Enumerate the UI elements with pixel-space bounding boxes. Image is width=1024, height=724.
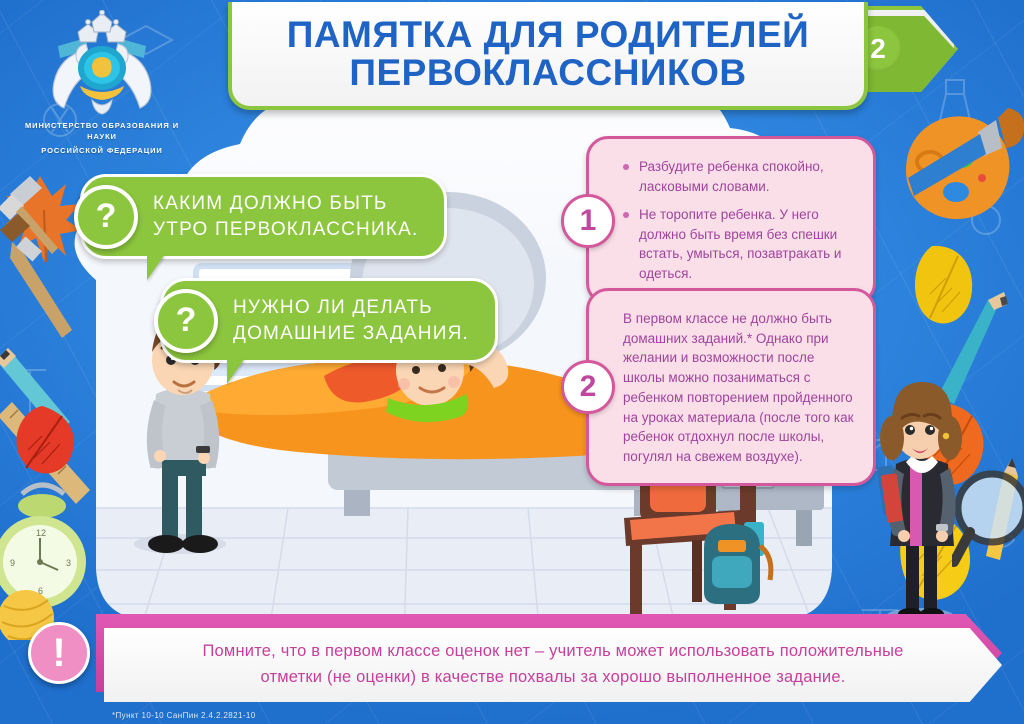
- page-title-card: ПАМЯТКА ДЛЯ РОДИТЕЛЕЙ ПЕРВОКЛАССНИКОВ: [228, 2, 868, 110]
- paintbrush-icon: [0, 176, 58, 254]
- banner-line-1: Помните, что в первом классе оценок нет …: [202, 639, 903, 665]
- paintbrush-icon: [908, 108, 1024, 196]
- answer-number-badge-1: 1: [561, 194, 615, 248]
- emblem-text-line2: РОССИЙСКОЙ ФЕДЕРАЦИИ: [12, 145, 192, 156]
- answer-box-2: 2 В первом классе не должно быть домашни…: [586, 288, 876, 486]
- yellow-leaf-icon: [900, 513, 970, 600]
- question-mark-icon: ?: [74, 185, 138, 249]
- banner-line-2: отметки (не оценки) в качестве похвалы з…: [260, 665, 845, 691]
- question-mark-icon: ?: [154, 289, 218, 353]
- poster-root: 123 69: [0, 0, 1024, 724]
- svg-text:12: 12: [36, 528, 46, 538]
- question-bubble-1: ? КАКИМ ДОЛЖНО БЫТЬ УТРО ПЕРВОКЛАССНИКА.: [80, 174, 468, 259]
- footnote-text: *Пункт 10-10 СанПин 2.4.2.2821-10: [112, 711, 256, 720]
- magnifier-icon: [952, 466, 1024, 576]
- yellow-leaf-icon: [915, 246, 972, 324]
- red-leaf-icon: [16, 406, 73, 473]
- alarm-clock-icon: 123 69: [0, 485, 86, 608]
- bottom-banner-wrap: Помните, что в первом классе оценок нет …: [0, 606, 1024, 724]
- paintbrush-icon: [0, 214, 72, 338]
- svg-text:6: 6: [38, 586, 43, 596]
- bubble-tail: [147, 254, 165, 280]
- answer-1-list: Разбудите ребенка спокойно, ласковыми сл…: [623, 157, 855, 283]
- svg-text:9: 9: [10, 558, 15, 568]
- answer-number-badge-2: 2: [561, 360, 615, 414]
- ruler-icon: [0, 402, 90, 504]
- page-title-line2: ПЕРВОКЛАССНИКОВ: [349, 54, 746, 92]
- exclamation-badge: !: [28, 622, 90, 684]
- teacher-standing-figure: [862, 368, 982, 626]
- emblem-text-line1: МИНИСТЕРСТВО ОБРАЗОВАНИЯ И НАУКИ: [12, 120, 192, 143]
- right-decoration-group: [896, 104, 1024, 624]
- question-2-line1: НУЖНО ЛИ ДЕЛАТЬ: [233, 295, 469, 321]
- orange-leaf-icon: [923, 404, 983, 485]
- page-title-line1: ПАМЯТКА ДЛЯ РОДИТЕЛЕЙ: [287, 16, 810, 54]
- answer-1-bullet-1: Разбудите ребенка спокойно, ласковыми сл…: [623, 157, 855, 196]
- books-icon: [877, 465, 904, 523]
- bottom-banner: Помните, что в первом классе оценок нет …: [104, 628, 1002, 702]
- answer-1-bullet-2: Не торопите ребенка. У него должно быть …: [623, 205, 855, 283]
- colored-pencil-icon: [938, 292, 1008, 404]
- pencil-icon: [986, 458, 1018, 560]
- question-1-line1: КАКИМ ДОЛЖНО БЫТЬ: [153, 191, 418, 217]
- russian-federation-ministry-of-education-emblem: [42, 10, 162, 118]
- maple-leaf-icon: [6, 176, 82, 262]
- paint-palette-icon: [906, 116, 1009, 219]
- question-1-line2: УТРО ПЕРВОКЛАССНИКА.: [153, 217, 418, 243]
- answer-2-text: В первом классе не должно быть домашних …: [623, 309, 855, 467]
- bubble-tail: [227, 358, 245, 384]
- colored-pencil-icon: [0, 348, 70, 434]
- answer-box-1: 1 Разбудите ребенка спокойно, ласковыми …: [586, 136, 876, 305]
- ministry-emblem-block: МИНИСТЕРСТВО ОБРАЗОВАНИЯ И НАУКИ РОССИЙС…: [12, 10, 192, 156]
- question-bubble-2: ? НУЖНО ЛИ ДЕЛАТЬ ДОМАШНИЕ ЗАДАНИЯ.: [160, 278, 530, 363]
- svg-text:3: 3: [66, 558, 71, 568]
- question-2-line2: ДОМАШНИЕ ЗАДАНИЯ.: [233, 321, 469, 347]
- backpack-icon: [704, 522, 771, 604]
